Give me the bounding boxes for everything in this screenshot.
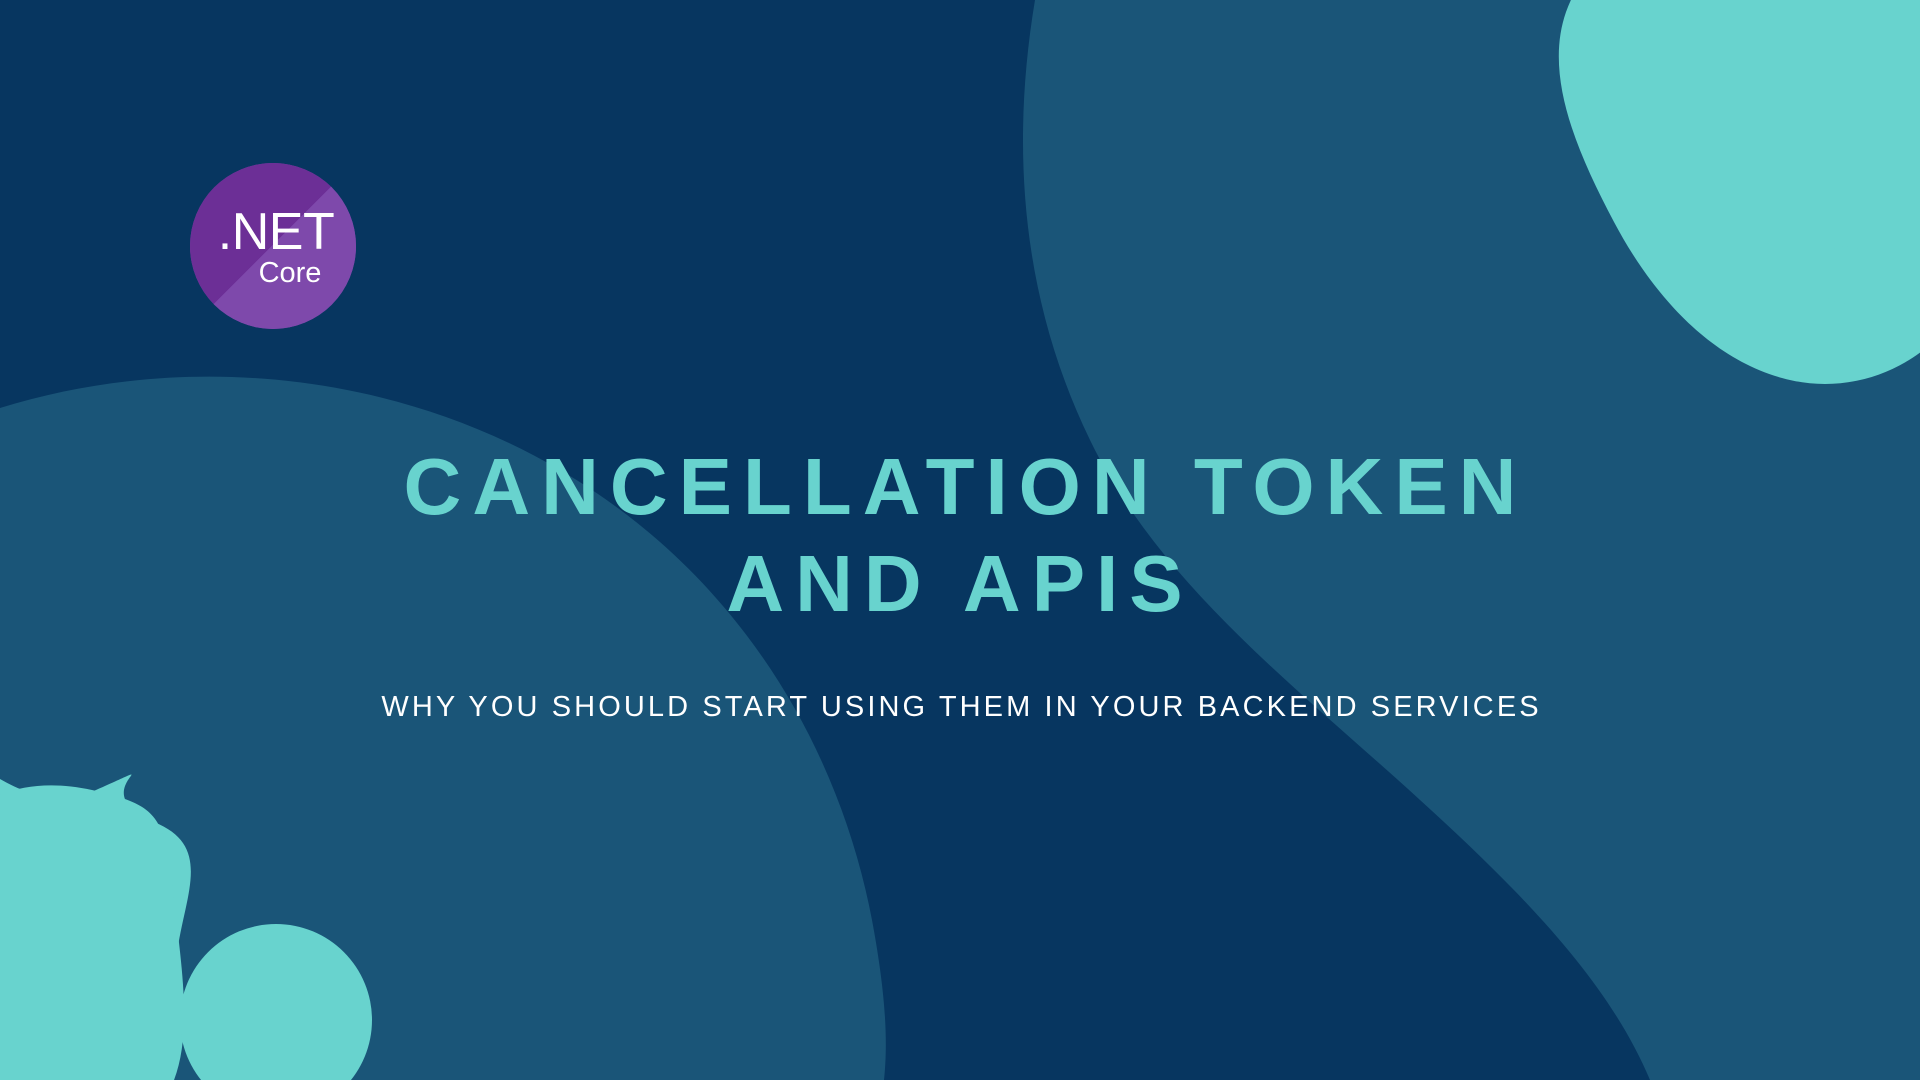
title-slide: .NET Core CANCELLATION TOKEN AND APIS WH… (0, 0, 1920, 1080)
slide-content: .NET Core CANCELLATION TOKEN AND APIS WH… (0, 0, 1920, 1080)
logo-dotnet-label: .NET (218, 208, 334, 258)
logo-core-label: Core (259, 259, 322, 288)
slide-headline: CANCELLATION TOKEN AND APIS (0, 438, 1920, 633)
slide-subtitle: WHY YOU SHOULD START USING THEM IN YOUR … (0, 691, 1920, 724)
dotnet-core-logo: .NET Core (190, 163, 356, 329)
logo-wordmark: .NET Core (190, 163, 356, 329)
